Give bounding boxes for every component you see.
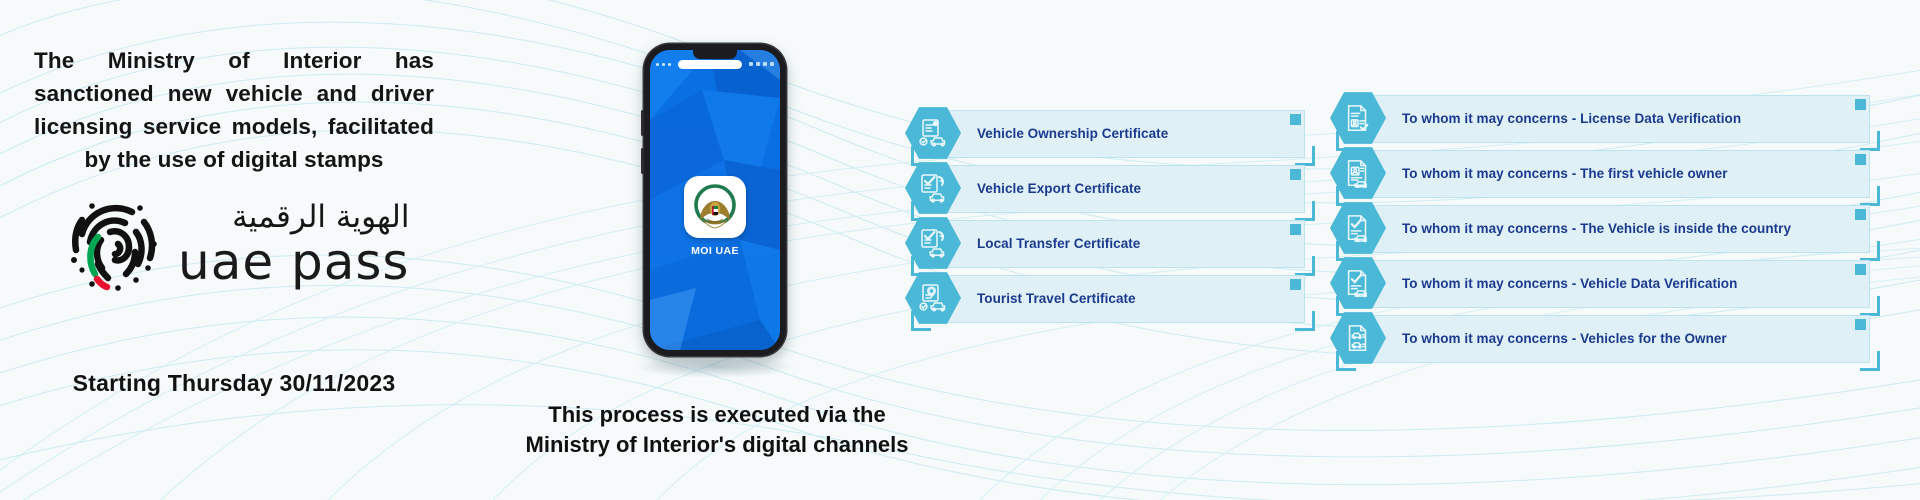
address-bar[interactable] bbox=[678, 60, 742, 69]
app-label: MOI UAE bbox=[691, 245, 739, 257]
corner-square-accent bbox=[1855, 209, 1866, 220]
starting-date: Starting Thursday 30/11/2023 bbox=[34, 370, 434, 397]
phone-shadow bbox=[635, 356, 795, 378]
bracket-bottom-right bbox=[1295, 146, 1315, 166]
phone-caption: This process is executed via the Ministr… bbox=[472, 400, 962, 460]
certificate-card[interactable]: To whom it may concerns - Vehicle Data V… bbox=[1330, 260, 1870, 306]
certificate-label: To whom it may concerns - Vehicle Data V… bbox=[1402, 260, 1737, 306]
phone-browser-bar[interactable] bbox=[650, 56, 780, 72]
corner-square-accent bbox=[1855, 154, 1866, 165]
headline-line-4: by the use of digital stamps bbox=[34, 143, 434, 176]
certificate-label: Tourist Travel Certificate bbox=[977, 275, 1136, 321]
corner-square-accent bbox=[1290, 114, 1301, 125]
certificate-card[interactable]: To whom it may concerns - The Vehicle is… bbox=[1330, 205, 1870, 251]
phone-screen: MOI UAE bbox=[650, 50, 780, 350]
left-text-block: The Ministry of Interior has sanctioned … bbox=[34, 44, 434, 176]
profile-icon bbox=[756, 62, 760, 66]
phone-caption-line-1: This process is executed via the bbox=[548, 402, 885, 427]
bracket-bottom-right bbox=[1295, 256, 1315, 276]
reload-dot-icon bbox=[668, 63, 671, 66]
headline-line-1: The Ministry of Interior has bbox=[34, 44, 434, 77]
phone-mockup: MOI UAE bbox=[625, 38, 805, 388]
bracket-bottom-right bbox=[1860, 351, 1880, 371]
certificate-card[interactable]: Vehicle Export Certificate bbox=[905, 165, 1305, 211]
forward-dot-icon bbox=[662, 63, 665, 66]
menu-icon bbox=[770, 62, 774, 66]
certificate-label: Vehicle Export Certificate bbox=[977, 165, 1141, 211]
app-shortcut[interactable]: MOI UAE bbox=[684, 176, 746, 257]
corner-square-accent bbox=[1855, 319, 1866, 330]
phone-body: MOI UAE bbox=[644, 44, 786, 356]
uae-pass-logo: الهوية الرقمية uae pass bbox=[62, 192, 409, 296]
bracket-bottom-right bbox=[1860, 131, 1880, 151]
bracket-bottom-right bbox=[1295, 311, 1315, 331]
headline: The Ministry of Interior has sanctioned … bbox=[34, 44, 434, 176]
certificate-label: To whom it may concerns - The first vehi… bbox=[1402, 150, 1728, 196]
corner-square-accent bbox=[1855, 99, 1866, 110]
certificate-label: Vehicle Ownership Certificate bbox=[977, 110, 1168, 156]
bracket-bottom-right bbox=[1860, 241, 1880, 261]
corner-square-accent bbox=[1290, 279, 1301, 290]
bracket-bottom-right bbox=[1860, 186, 1880, 206]
certificate-label: To whom it may concerns - License Data V… bbox=[1402, 95, 1741, 141]
moi-uae-emblem-icon[interactable] bbox=[684, 176, 746, 238]
certificate-card[interactable]: Local Transfer Certificate bbox=[905, 220, 1305, 266]
infographic-banner: The Ministry of Interior has sanctioned … bbox=[0, 0, 1920, 500]
uae-pass-arabic: الهوية الرقمية bbox=[232, 202, 409, 233]
corner-square-accent bbox=[1290, 224, 1301, 235]
certificate-label: To whom it may concerns - The Vehicle is… bbox=[1402, 205, 1791, 251]
uae-pass-english: uae pass bbox=[178, 237, 409, 287]
bracket-bottom-right bbox=[1860, 296, 1880, 316]
corner-square-accent bbox=[1855, 264, 1866, 275]
star-icon bbox=[749, 62, 753, 66]
certificate-label: Local Transfer Certificate bbox=[977, 220, 1140, 266]
phone-caption-line-2: Ministry of Interior's digital channels bbox=[526, 432, 909, 457]
tabs-icon bbox=[763, 62, 767, 66]
uae-pass-wordmark: الهوية الرقمية uae pass bbox=[178, 202, 409, 287]
corner-square-accent bbox=[1290, 169, 1301, 180]
certificate-label: To whom it may concerns - Vehicles for t… bbox=[1402, 315, 1727, 361]
certificate-card[interactable]: To whom it may concerns - Vehicles for t… bbox=[1330, 315, 1870, 361]
fingerprint-icon bbox=[62, 192, 166, 296]
bracket-bottom-right bbox=[1295, 201, 1315, 221]
certificate-card[interactable]: Tourist Travel Certificate bbox=[905, 275, 1305, 321]
headline-line-3: licensing service models, facilitated bbox=[34, 110, 434, 143]
certificate-card[interactable]: Vehicle Ownership Certificate bbox=[905, 110, 1305, 156]
certificate-card[interactable]: To whom it may concerns - License Data V… bbox=[1330, 95, 1870, 141]
back-dot-icon bbox=[656, 63, 659, 66]
headline-line-2: sanctioned new vehicle and driver bbox=[34, 77, 434, 110]
certificate-card[interactable]: To whom it may concerns - The first vehi… bbox=[1330, 150, 1870, 196]
